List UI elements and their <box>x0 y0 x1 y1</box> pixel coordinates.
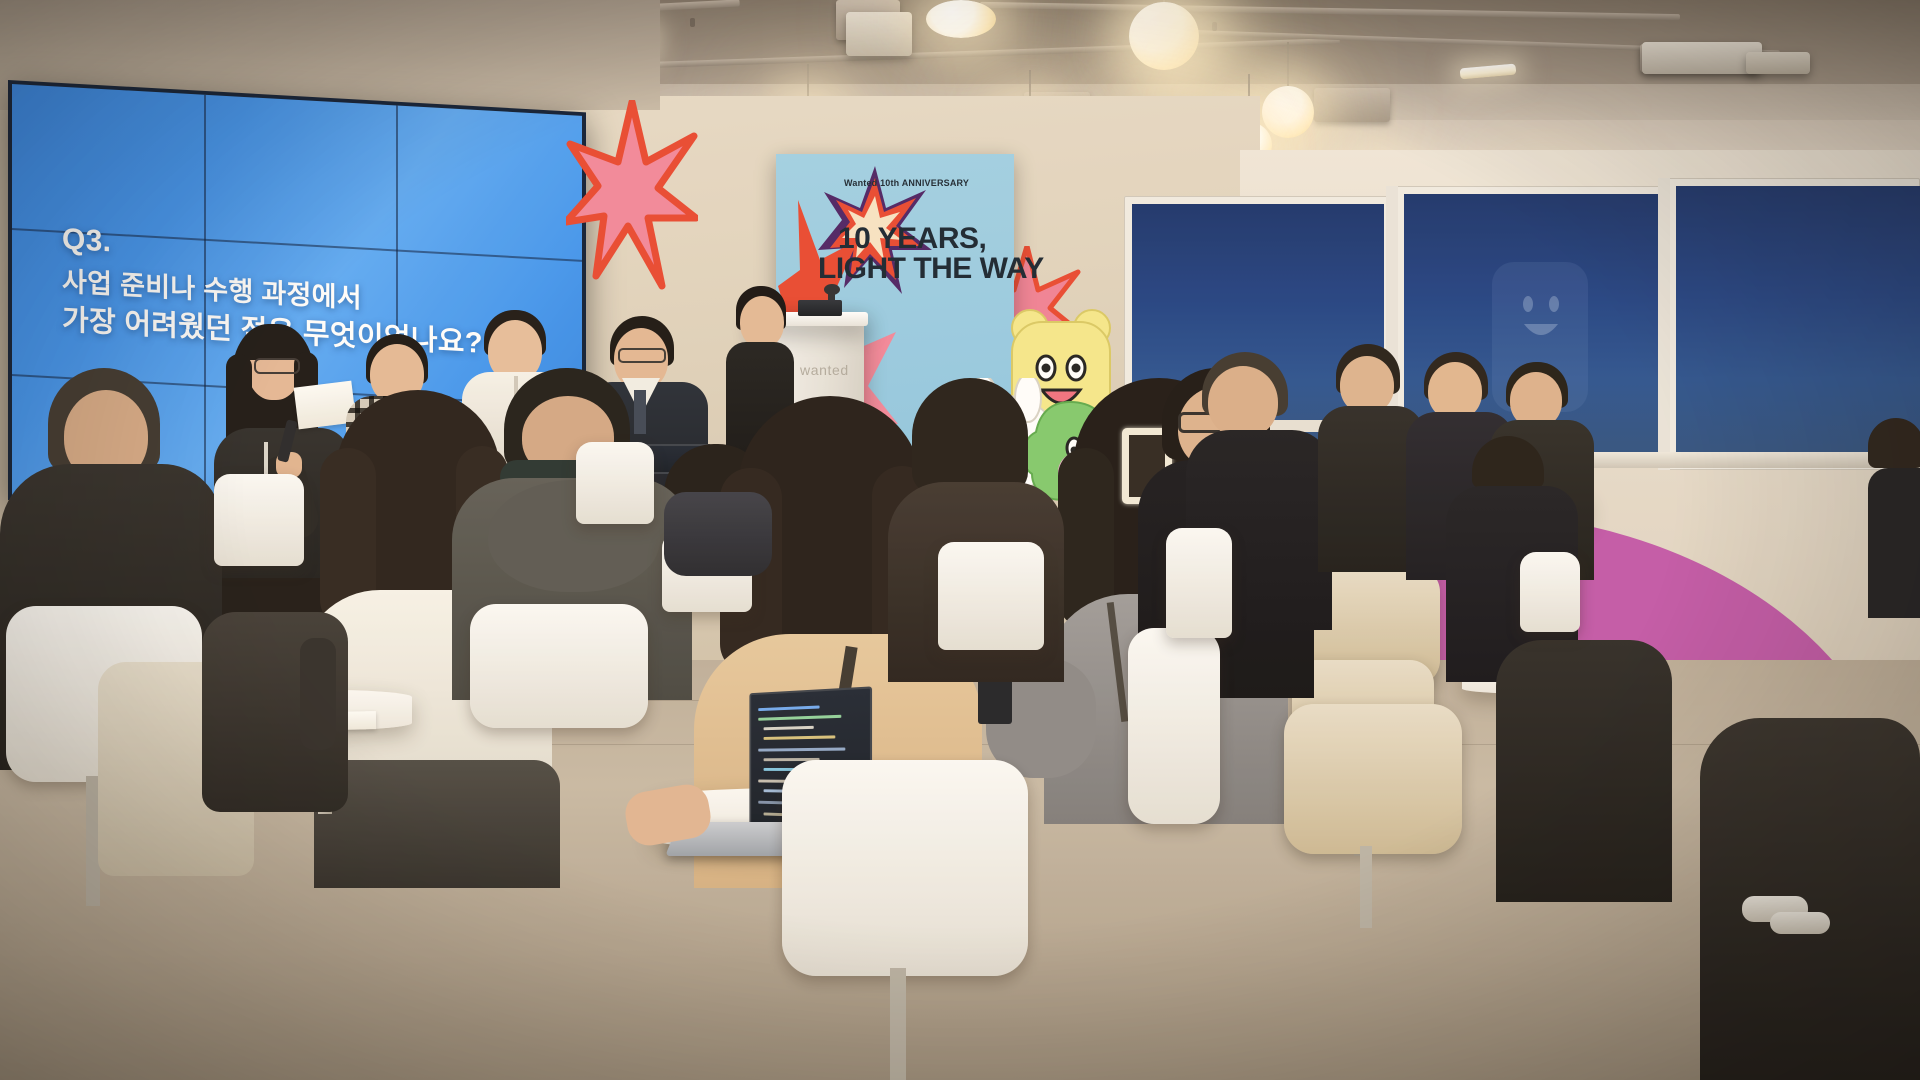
far-right-4-hair <box>1472 436 1544 488</box>
code-line-1 <box>758 705 819 711</box>
audience-far-right-7 <box>1868 418 1920 618</box>
chair-right-tall <box>1166 528 1232 638</box>
far-right-5-torso <box>1496 640 1672 902</box>
audience-far-right-5 <box>1496 600 1676 900</box>
chair-front-center <box>782 760 1028 976</box>
far-right-7-hair <box>1868 418 1920 468</box>
suit-glasses-icon <box>618 348 666 363</box>
podium-laptop <box>798 300 842 316</box>
projector-mount-1 <box>846 12 912 56</box>
pink-star-large-icon <box>566 100 698 290</box>
wood-chair-foreground <box>1284 704 1462 854</box>
moderator-glasses-icon <box>254 358 300 374</box>
chair-front-right <box>1128 628 1220 824</box>
audience-far-right-6 <box>1700 718 1920 1080</box>
chair-center-back <box>470 604 648 728</box>
pendant-globe-2 <box>926 0 996 38</box>
banner-headline-2: LIGHT THE WAY <box>818 252 1044 286</box>
chair-panel-1 <box>576 442 654 524</box>
banner-headline-1: 10 YEARS, <box>838 222 986 256</box>
backpack-strap <box>300 638 336 750</box>
podium-mic-head <box>824 284 840 295</box>
slide-question-number: Q3. <box>62 223 111 260</box>
code-line-5 <box>758 747 845 751</box>
far-right-6-torso <box>1700 718 1920 1080</box>
chair-front-center-leg <box>890 968 906 1080</box>
window-mullion-2 <box>1658 178 1670 470</box>
ceiling-duct-4 <box>1314 88 1390 122</box>
banner-eyebrow: Wanted 10th ANNIVERSARY <box>844 178 969 188</box>
pendant-rod-8 <box>807 64 809 100</box>
code-line-4 <box>764 735 836 740</box>
vent-grille <box>1746 52 1810 74</box>
dark-top-woman-hair <box>912 378 1028 494</box>
event-photo-scene: Q3. 사업 준비나 수행 과정에서 가장 어려웠던 점은 무엇이었나요? Wa… <box>0 0 1920 1080</box>
chair-right-mid <box>938 542 1044 650</box>
back-glasses-head <box>1208 366 1278 438</box>
chair-far-bottom-right <box>1520 552 1580 632</box>
chair-mid-left <box>214 474 304 566</box>
sprinkler-2 <box>690 18 695 27</box>
window-reflection-face-icon <box>1506 288 1576 350</box>
staff-head <box>740 296 784 348</box>
wood-chair-foreground-leg <box>1360 846 1372 928</box>
podium-brand: wanted <box>800 362 849 378</box>
code-line-2 <box>758 715 841 721</box>
projector-mount-3 <box>1642 42 1762 74</box>
white-sneaker-2 <box>1770 912 1830 934</box>
woman-white-skirt <box>314 760 560 888</box>
backpack-center <box>664 492 772 576</box>
far-right-7-torso <box>1868 468 1920 618</box>
code-line-3 <box>764 726 814 730</box>
